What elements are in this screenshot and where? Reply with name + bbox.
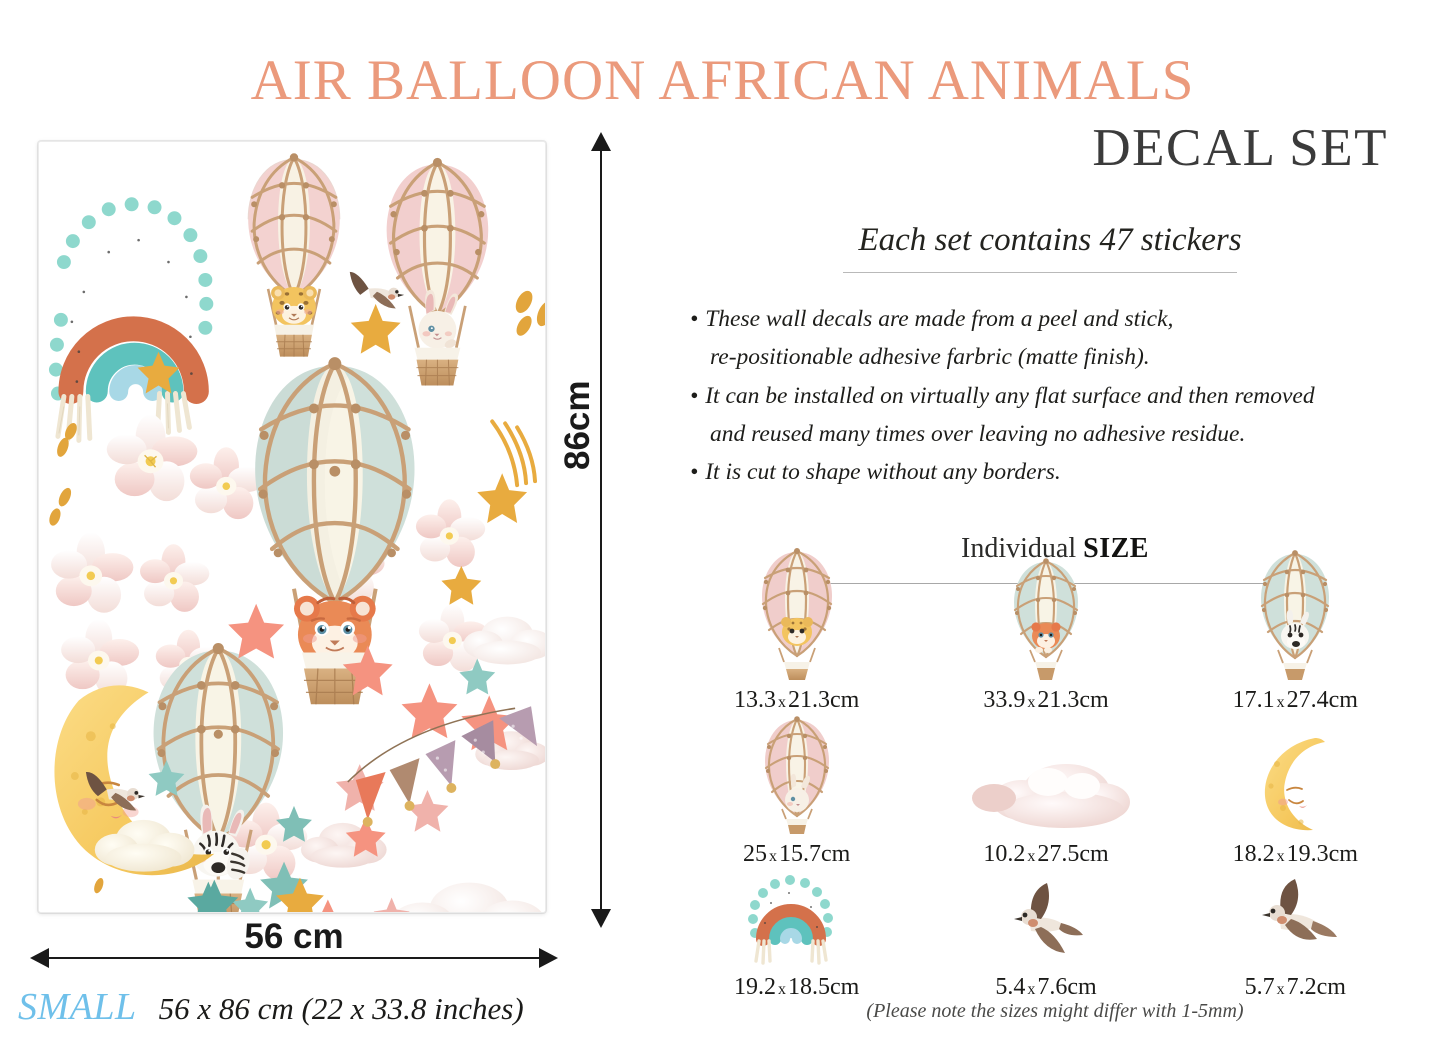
size-label: 19.2x18.5cm	[734, 971, 859, 1003]
size-separator: x	[767, 848, 779, 865]
bullet-text: These wall decals are made from a peel a…	[705, 306, 1173, 332]
swallow-bird-alt-icon	[1249, 875, 1341, 967]
size-height: 27.5cm	[1037, 841, 1108, 867]
bullet-marker: •	[690, 383, 698, 409]
decal-sheet-artwork	[39, 142, 545, 912]
size-item: 10.2x27.5cm	[921, 716, 1170, 870]
size-item: 25x15.7cm	[672, 716, 921, 870]
decal-sheet-preview	[38, 141, 546, 913]
size-separator: x	[776, 981, 788, 998]
page-title: AIR BALLOON AFRICAN ANIMALS	[0, 48, 1445, 113]
size-width: 25	[743, 841, 767, 867]
sheet-size-name: SMALL	[18, 985, 137, 1029]
size-label: 25x15.7cm	[743, 838, 850, 870]
size-label: 13.3x21.3cm	[734, 684, 859, 716]
individual-size-grid: 13.3x21.3cm	[672, 548, 1420, 1003]
size-width: 33.9	[983, 687, 1025, 713]
size-height: 27.4cm	[1287, 687, 1358, 713]
leopard-balloon-icon	[753, 548, 841, 680]
thumbnail	[921, 716, 1170, 838]
size-item: 17.1x27.4cm	[1171, 548, 1420, 716]
thumbnail	[672, 870, 921, 971]
size-height: 21.3cm	[1037, 687, 1108, 713]
divider	[843, 272, 1237, 273]
size-label: 5.4x7.6cm	[995, 971, 1096, 1003]
size-height: 7.6cm	[1037, 974, 1096, 1000]
size-height: 21.3cm	[788, 687, 859, 713]
size-width: 18.2	[1233, 841, 1275, 867]
size-separator: x	[776, 694, 788, 711]
bullet-marker: •	[690, 459, 698, 485]
size-height: 19.3cm	[1287, 841, 1358, 867]
size-item: 5.7x7.2cm	[1171, 870, 1420, 1003]
size-separator: x	[1025, 981, 1037, 998]
size-separator: x	[1025, 848, 1037, 865]
size-height: 15.7cm	[779, 841, 850, 867]
width-dimension-label: 56 cm	[48, 917, 540, 957]
size-width: 5.4	[995, 974, 1025, 1000]
bullet-text: It can be installed on virtually any fla…	[705, 383, 1314, 409]
sheet-size-summary: SMALL 56 x 86 cm (22 x 33.8 inches)	[18, 985, 524, 1029]
feature-bullet-list: •These wall decals are made from a peel …	[690, 300, 1420, 491]
size-label: 33.9x21.3cm	[983, 684, 1108, 716]
thumbnail	[1171, 716, 1420, 838]
sticker-count-line: Each set contains 47 stickers	[700, 222, 1400, 259]
size-item: 33.9x21.3cm	[921, 548, 1170, 716]
list-item: •These wall decals are made from a peel …	[690, 300, 1420, 338]
bullet-text: and reused many times over leaving no ad…	[710, 421, 1245, 447]
size-width: 17.1	[1233, 687, 1275, 713]
sheet-size-dimensions: 56 x 86 cm (22 x 33.8 inches)	[159, 991, 524, 1027]
size-width: 10.2	[983, 841, 1025, 867]
rainbow-icon	[743, 871, 851, 967]
list-item-continuation: re-positionable adhesive farbric (matte …	[690, 338, 1420, 376]
list-item: •It can be installed on virtually any fl…	[690, 377, 1420, 415]
bullet-text: It is cut to shape without any borders.	[705, 459, 1061, 485]
height-dimension-label: 86cm	[558, 380, 598, 470]
size-height: 18.5cm	[788, 974, 859, 1000]
height-dimension-arrow	[600, 150, 602, 910]
thumbnail	[672, 548, 921, 684]
size-width: 5.7	[1245, 974, 1275, 1000]
thumbnail	[1171, 870, 1420, 971]
zebra-balloon-icon	[1254, 550, 1336, 680]
product-listing-page: AIR BALLOON AFRICAN ANIMALS DECAL SET	[0, 0, 1445, 1046]
width-dimension-arrow	[48, 957, 540, 959]
size-item: 5.4x7.6cm	[921, 870, 1170, 1003]
size-width: 13.3	[734, 687, 776, 713]
size-height: 7.2cm	[1287, 974, 1346, 1000]
bunny-balloon-icon	[757, 716, 837, 834]
crescent-moon-icon	[1249, 734, 1341, 834]
size-label: 17.1x27.4cm	[1233, 684, 1358, 716]
size-separator: x	[1275, 694, 1287, 711]
bullet-marker: •	[690, 306, 698, 332]
size-separator: x	[1025, 694, 1037, 711]
thumbnail	[672, 716, 921, 838]
size-item: 13.3x21.3cm	[672, 548, 921, 716]
size-separator: x	[1275, 981, 1287, 998]
size-width: 19.2	[734, 974, 776, 1000]
size-item: 19.2x18.5cm	[672, 870, 921, 1003]
size-separator: x	[1275, 848, 1287, 865]
thumbnail	[1171, 548, 1420, 684]
size-label: 18.2x19.3cm	[1233, 838, 1358, 870]
tiger-balloon-icon	[1006, 558, 1086, 680]
size-label: 5.7x7.2cm	[1245, 971, 1346, 1003]
thumbnail	[921, 870, 1170, 971]
size-label: 10.2x27.5cm	[983, 838, 1108, 870]
bullet-text: re-positionable adhesive farbric (matte …	[710, 344, 1150, 370]
size-item: 18.2x19.3cm	[1171, 716, 1420, 870]
size-disclaimer: (Please note the sizes might differ with…	[690, 1000, 1420, 1023]
thumbnail	[921, 548, 1170, 684]
cloud-icon	[956, 748, 1136, 834]
list-item-continuation: and reused many times over leaving no ad…	[690, 415, 1420, 453]
swallow-bird-icon	[1003, 875, 1089, 967]
list-item: •It is cut to shape without any borders.	[690, 453, 1420, 491]
